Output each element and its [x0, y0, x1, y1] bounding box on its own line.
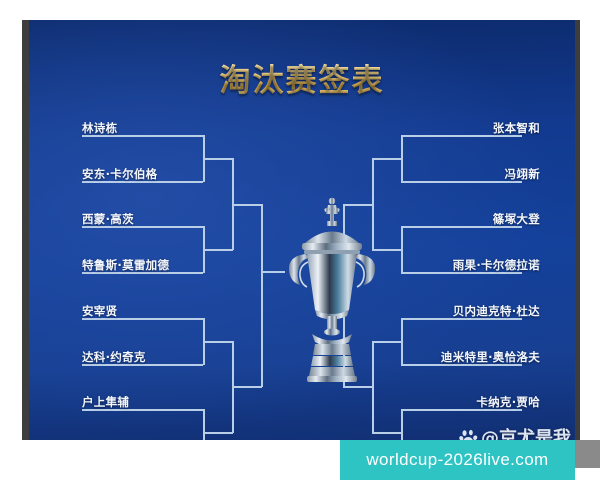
right-player-7: 卡纳克·贾哈: [476, 394, 540, 410]
right-player-6: 迪米特里·奥恰洛夫: [441, 349, 540, 365]
left-qf-line-3: [203, 341, 233, 343]
left-qf-line-1: [203, 158, 233, 160]
right-player-1: 张本智和: [493, 120, 540, 136]
trophy-icon: [277, 192, 387, 382]
left-player-6: 达科·约奇克: [82, 349, 146, 365]
banner-shadow: [575, 440, 600, 468]
bracket-panel: 淘汰赛签表: [29, 20, 575, 440]
bottom-banner[interactable]: worldcup-2026live.com: [340, 440, 575, 480]
right-player-2: 冯翊新: [505, 166, 540, 182]
left-qf-line-2: [203, 249, 233, 251]
left-sf-connector: [261, 204, 263, 387]
right-qf-line-4: [372, 432, 402, 434]
right-player-3: 篠塚大登: [493, 211, 540, 227]
watermark-text: @京尤是我: [481, 424, 571, 440]
left-player-5: 安宰贤: [82, 303, 117, 319]
banner-url[interactable]: worldcup-2026live.com: [366, 450, 548, 470]
left-player-7: 户上隼辅: [82, 394, 129, 410]
left-qf-line-4: [203, 432, 233, 434]
left-player-4: 特鲁斯·莫雷加德: [82, 257, 169, 273]
left-sf-line-bottom: [232, 386, 262, 388]
left-pair-connector-4: [203, 409, 205, 440]
baidu-paw-icon: [459, 428, 478, 441]
right-player-5: 贝内迪克特·杜达: [453, 303, 540, 319]
left-sf-line-top: [232, 204, 262, 206]
left-player-2: 安东·卡尔伯格: [82, 166, 157, 182]
left-player-3: 西蒙·高茨: [82, 211, 134, 227]
right-pair-connector-4: [401, 409, 403, 440]
right-sf-line-bottom: [343, 386, 373, 388]
screenshot-root: 淘汰赛签表: [0, 0, 600, 480]
watermark: @京尤是我: [459, 424, 571, 440]
left-player-1: 林诗栋: [82, 120, 117, 136]
right-player-4: 雨果·卡尔德拉诺: [453, 257, 540, 273]
left-edge-rail: [22, 20, 29, 440]
right-qf-line-1: [372, 158, 402, 160]
